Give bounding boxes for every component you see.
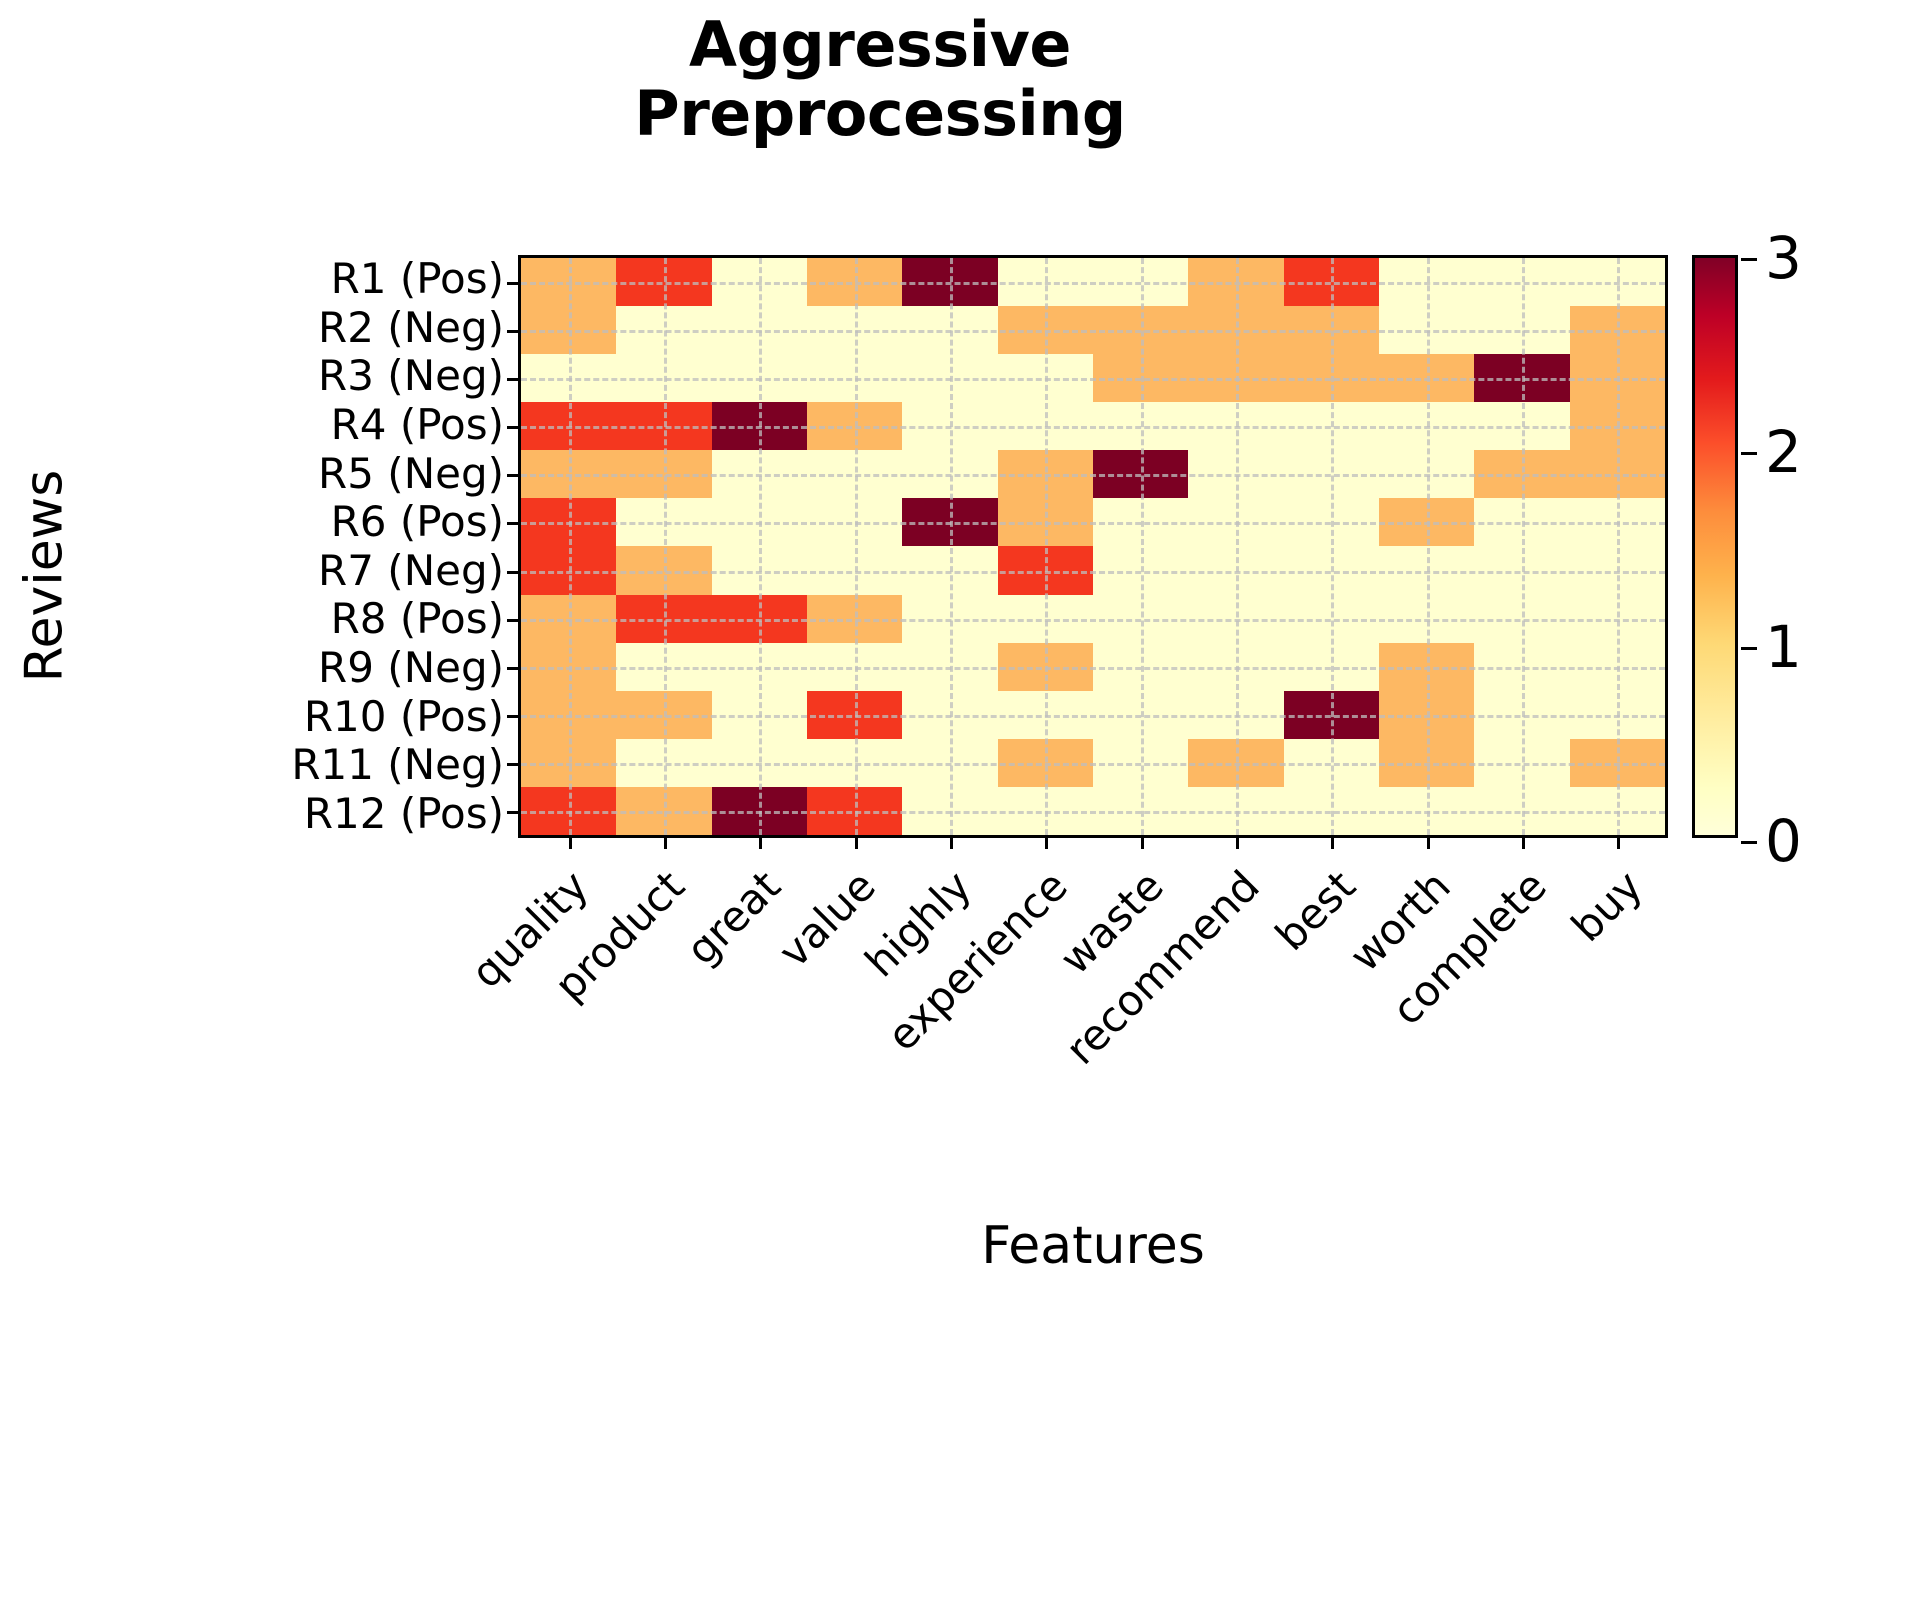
- heatmap-cell: [1188, 546, 1283, 594]
- heatmap-cell: [998, 402, 1093, 450]
- heatmap-cell: [1188, 739, 1283, 787]
- heatmap-cell: [1093, 498, 1188, 546]
- heatmap-cell: [1284, 643, 1379, 691]
- y-axis-tick: [507, 426, 521, 429]
- heatmap-cell: [1379, 595, 1474, 643]
- chart-title: Aggressive Preprocessing: [0, 10, 1760, 149]
- y-axis-tick: [507, 811, 521, 814]
- x-axis-tick: [1617, 835, 1620, 849]
- heatmap-cell: [712, 546, 807, 594]
- heatmap-cell: [616, 402, 711, 450]
- y-axis-label-r5: R5 (Neg): [318, 453, 504, 495]
- heatmap-cell: [1284, 258, 1379, 306]
- heatmap-cell: [807, 306, 902, 354]
- heatmap-cell: [1474, 691, 1569, 739]
- heatmap-cell: [616, 787, 711, 835]
- heatmap-cell: [1570, 643, 1665, 691]
- heatmap-cell: [998, 450, 1093, 498]
- y-axis-label-r7: R7 (Neg): [318, 550, 504, 592]
- y-axis-tick: [507, 619, 521, 622]
- heatmap-cell: [1570, 739, 1665, 787]
- y-axis-tick: [507, 571, 521, 574]
- y-axis-label-r8: R8 (Pos): [331, 598, 504, 640]
- heatmap-cell: [1093, 306, 1188, 354]
- heatmap-cell: [1188, 306, 1283, 354]
- heatmap-cell: [1379, 739, 1474, 787]
- heatmap-cell: [616, 546, 711, 594]
- heatmap-cell: [712, 739, 807, 787]
- heatmap-cell: [998, 354, 1093, 402]
- heatmap-cell: [1284, 546, 1379, 594]
- heatmap-cell: [1093, 402, 1188, 450]
- y-axis-label-r6: R6 (Pos): [331, 501, 504, 543]
- heatmap-cell: [712, 691, 807, 739]
- heatmap-cell: [1474, 643, 1569, 691]
- heatmap-cell: [1474, 739, 1569, 787]
- y-axis-tick: [507, 715, 521, 718]
- heatmap-cell: [902, 450, 997, 498]
- heatmap-cell: [1379, 787, 1474, 835]
- heatmap-cell: [1474, 498, 1569, 546]
- heatmap-cell: [1474, 354, 1569, 402]
- heatmap-cell: [616, 498, 711, 546]
- heatmap-cell: [521, 739, 616, 787]
- heatmap-cell: [521, 691, 616, 739]
- heatmap-cell: [616, 306, 711, 354]
- heatmap-cell: [1284, 354, 1379, 402]
- heatmap-cell: [998, 739, 1093, 787]
- heatmap-cell: [616, 450, 711, 498]
- y-axis-tick: [507, 522, 521, 525]
- heatmap-cell: [1379, 258, 1474, 306]
- heatmap-cell: [616, 691, 711, 739]
- y-axis-label-r10: R10 (Pos): [304, 696, 504, 738]
- heatmap-cell: [807, 546, 902, 594]
- heatmap-cell: [1379, 691, 1474, 739]
- heatmap-cell: [521, 402, 616, 450]
- heatmap-cell: [1570, 691, 1665, 739]
- heatmap-cell: [902, 402, 997, 450]
- heatmap-cell: [521, 595, 616, 643]
- heatmap-cell: [712, 450, 807, 498]
- heatmap-cell: [902, 787, 997, 835]
- heatmap-cell: [1474, 595, 1569, 643]
- heatmap-cell: [521, 787, 616, 835]
- heatmap-cell: [1188, 258, 1283, 306]
- heatmap-cell: [902, 498, 997, 546]
- heatmap-cell: [521, 450, 616, 498]
- heatmap-cell: [902, 691, 997, 739]
- x-axis-title: Features: [518, 1216, 1668, 1276]
- heatmap-cell: [1474, 546, 1569, 594]
- heatmap-cell: [616, 643, 711, 691]
- heatmap-cell: [807, 595, 902, 643]
- heatmap-cell: [807, 739, 902, 787]
- y-axis-tick: [507, 282, 521, 285]
- heatmap-cell: [1093, 258, 1188, 306]
- heatmap-cell: [1188, 402, 1283, 450]
- colorbar-tick: [1741, 647, 1757, 650]
- heatmap-cell: [1570, 787, 1665, 835]
- figure-canvas: Aggressive Preprocessing R1 (Pos)R2 (Neg…: [0, 0, 1920, 1344]
- y-axis-tick: [507, 330, 521, 333]
- heatmap-cell: [1188, 691, 1283, 739]
- heatmap-cell: [902, 546, 997, 594]
- x-axis-tick: [855, 835, 858, 849]
- x-axis-label-quality: quality: [0, 864, 596, 1601]
- heatmap-cell: [521, 354, 616, 402]
- heatmap-cell: [1188, 643, 1283, 691]
- y-axis-label-r9: R9 (Neg): [318, 647, 504, 689]
- heatmap-cell: [998, 546, 1093, 594]
- heatmap-cell: [712, 258, 807, 306]
- heatmap-cell: [1093, 691, 1188, 739]
- heatmap-cell: [1093, 595, 1188, 643]
- heatmap-cell: [807, 643, 902, 691]
- y-axis-tick: [507, 378, 521, 381]
- heatmap-cell: [902, 354, 997, 402]
- heatmap-cell: [998, 595, 1093, 643]
- heatmap-cell: [807, 691, 902, 739]
- y-axis-title: Reviews: [14, 470, 74, 683]
- heatmap-cell: [1379, 402, 1474, 450]
- y-axis-label-r1: R1 (Pos): [331, 258, 504, 300]
- heatmap-cell-grid: [521, 258, 1665, 835]
- x-axis-tick: [1331, 835, 1334, 849]
- heatmap-cell: [1570, 595, 1665, 643]
- x-axis-tick: [569, 835, 572, 849]
- heatmap-cell: [807, 258, 902, 306]
- colorbar-tick: [1741, 452, 1757, 455]
- heatmap-cell: [712, 354, 807, 402]
- y-axis-tick: [507, 667, 521, 670]
- heatmap-cell: [521, 643, 616, 691]
- heatmap-cell: [1379, 643, 1474, 691]
- heatmap-cell: [521, 306, 616, 354]
- y-axis-label-r3: R3 (Neg): [318, 355, 504, 397]
- heatmap-cell: [1379, 354, 1474, 402]
- heatmap-cell: [998, 258, 1093, 306]
- heatmap-cell: [616, 739, 711, 787]
- x-axis-tick: [1045, 835, 1048, 849]
- heatmap-cell: [1284, 739, 1379, 787]
- heatmap-cell: [807, 787, 902, 835]
- heatmap-cell: [902, 739, 997, 787]
- x-axis-tick: [950, 835, 953, 849]
- heatmap-cell: [1188, 354, 1283, 402]
- heatmap-cell: [712, 306, 807, 354]
- x-axis-tick: [1522, 835, 1525, 849]
- chart-title-line-2: Preprocessing: [0, 79, 1760, 148]
- heatmap-cell: [1379, 450, 1474, 498]
- y-axis-label-r12: R12 (Pos): [304, 793, 504, 835]
- heatmap-cell: [712, 402, 807, 450]
- heatmap-cell: [1570, 546, 1665, 594]
- heatmap-cell: [712, 787, 807, 835]
- heatmap-cell: [1093, 450, 1188, 498]
- heatmap-cell: [998, 691, 1093, 739]
- heatmap-cell: [521, 258, 616, 306]
- heatmap-cell: [1474, 402, 1569, 450]
- heatmap-cell: [712, 595, 807, 643]
- heatmap-cell: [1284, 595, 1379, 643]
- heatmap-cell: [616, 354, 711, 402]
- heatmap-cell: [1284, 450, 1379, 498]
- heatmap-cell: [902, 595, 997, 643]
- colorbar-tick-label-2: 2: [1765, 423, 1802, 481]
- x-axis-tick: [759, 835, 762, 849]
- heatmap-cell: [1474, 450, 1569, 498]
- x-axis-tick: [1141, 835, 1144, 849]
- heatmap-cell: [1570, 498, 1665, 546]
- heatmap-cell: [1379, 498, 1474, 546]
- colorbar: 0123: [1692, 255, 1738, 838]
- heatmap-cell: [1474, 306, 1569, 354]
- heatmap-cell: [712, 498, 807, 546]
- heatmap-cell: [1188, 595, 1283, 643]
- x-axis-tick: [1236, 835, 1239, 849]
- colorbar-tick: [1741, 841, 1757, 844]
- y-axis-label-r11: R11 (Neg): [291, 744, 504, 786]
- heatmap-cell: [1188, 450, 1283, 498]
- heatmap-cell: [1284, 306, 1379, 354]
- heatmap-cell: [998, 787, 1093, 835]
- heatmap-cell: [712, 643, 807, 691]
- heatmap-cell: [1284, 691, 1379, 739]
- chart-title-line-1: Aggressive: [689, 8, 1071, 81]
- heatmap-cell: [902, 258, 997, 306]
- colorbar-tick-label-0: 0: [1765, 812, 1802, 870]
- colorbar-tick-label-3: 3: [1765, 229, 1802, 287]
- heatmap-cell: [1188, 498, 1283, 546]
- heatmap-cell: [998, 498, 1093, 546]
- heatmap-cell: [998, 306, 1093, 354]
- heatmap-cell: [1093, 739, 1188, 787]
- heatmap-cell: [521, 546, 616, 594]
- heatmap-cell: [616, 595, 711, 643]
- colorbar-tick: [1741, 258, 1757, 261]
- heatmap-cell: [1570, 306, 1665, 354]
- y-axis-label-r4: R4 (Pos): [331, 404, 504, 446]
- heatmap-cell: [1570, 450, 1665, 498]
- heatmap-cell: [902, 306, 997, 354]
- colorbar-tick-label-1: 1: [1765, 618, 1802, 676]
- heatmap-cell: [807, 498, 902, 546]
- heatmap-cell: [1379, 546, 1474, 594]
- heatmap-cell: [807, 402, 902, 450]
- heatmap-cell: [1093, 354, 1188, 402]
- heatmap-cell: [902, 643, 997, 691]
- heatmap-cell: [1570, 354, 1665, 402]
- heatmap-cell: [1093, 546, 1188, 594]
- heatmap-cell: [1284, 787, 1379, 835]
- y-axis-label-r2: R2 (Neg): [318, 307, 504, 349]
- heatmap-cell: [1474, 787, 1569, 835]
- heatmap-cell: [1188, 787, 1283, 835]
- heatmap-cell: [1093, 643, 1188, 691]
- heatmap-cell: [1284, 498, 1379, 546]
- x-axis-tick: [1427, 835, 1430, 849]
- y-axis-tick: [507, 474, 521, 477]
- heatmap-cell: [521, 498, 616, 546]
- heatmap-cell: [1379, 306, 1474, 354]
- heatmap-plot-area: [518, 255, 1668, 838]
- heatmap-cell: [1570, 402, 1665, 450]
- heatmap-cell: [807, 354, 902, 402]
- x-axis-tick: [664, 835, 667, 849]
- heatmap-cell: [1093, 787, 1188, 835]
- heatmap-cell: [1570, 258, 1665, 306]
- heatmap-cell: [1474, 258, 1569, 306]
- heatmap-cell: [616, 258, 711, 306]
- heatmap-cell: [807, 450, 902, 498]
- heatmap-cell: [998, 643, 1093, 691]
- heatmap-cell: [1284, 402, 1379, 450]
- y-axis-tick: [507, 763, 521, 766]
